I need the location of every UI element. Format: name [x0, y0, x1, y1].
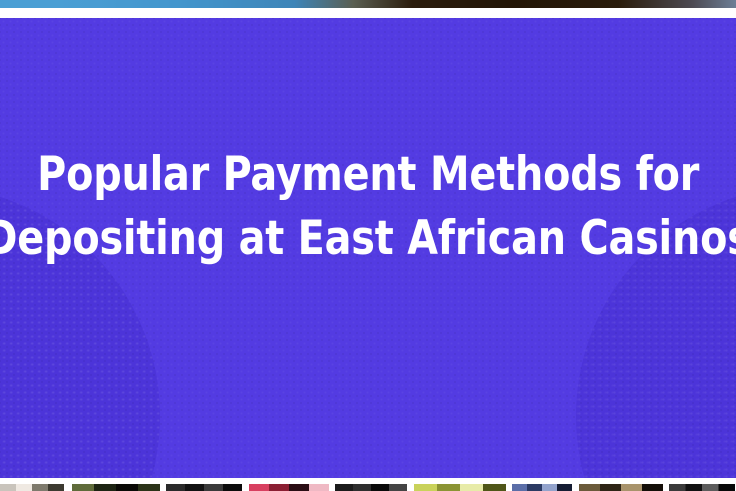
card-thumbnail[interactable]	[669, 484, 735, 491]
page-title-line-2: Depositing at East African Casinos	[0, 207, 736, 271]
card-thumbnail[interactable]	[512, 484, 572, 491]
card-thumbnail[interactable]	[579, 484, 663, 491]
card-thumbnail[interactable]	[166, 484, 242, 491]
article-hero-page: Popular Payment Methods for Depositing a…	[0, 0, 736, 491]
thumb-gap	[572, 484, 579, 491]
hero-banner: Popular Payment Methods for Depositing a…	[0, 18, 736, 478]
card-thumbnail[interactable]	[0, 484, 64, 491]
thumb-gap	[64, 484, 72, 491]
card-thumbnail[interactable]	[335, 484, 407, 491]
card-thumbnail[interactable]	[72, 484, 160, 491]
preceding-image-bottom-edge	[0, 0, 736, 8]
thumb-gap	[407, 484, 414, 491]
thumb-gap	[242, 484, 249, 491]
card-thumbnail[interactable]	[249, 484, 329, 491]
article-card-images-row[interactable]	[0, 484, 736, 491]
page-title-line-1: Popular Payment Methods for	[37, 143, 699, 207]
card-thumbnail[interactable]	[414, 484, 506, 491]
page-title: Popular Payment Methods for Depositing a…	[0, 18, 736, 478]
top-whitespace-divider	[0, 8, 736, 18]
